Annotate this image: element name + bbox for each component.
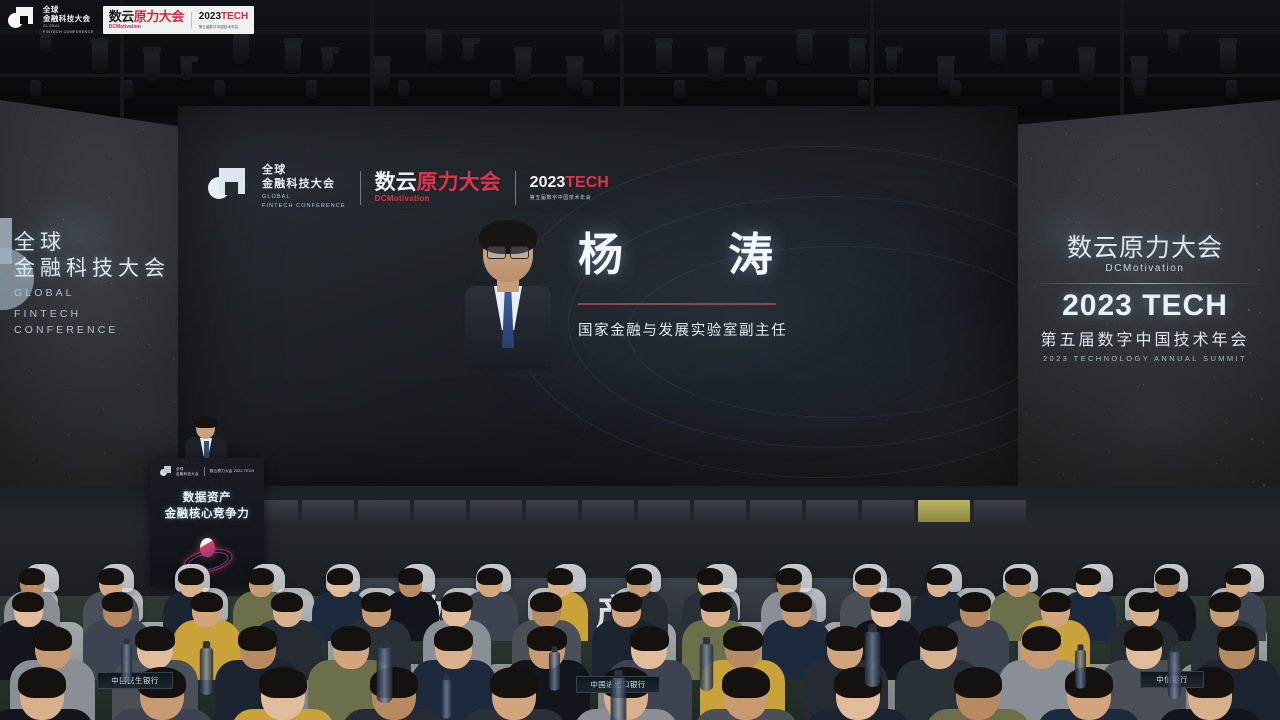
podium-fintech-mark-icon: [160, 466, 171, 477]
watermark-cn-line1: 全球: [43, 5, 94, 14]
right-wall-summit-cn: 第五届数字中国技术年会: [1027, 326, 1263, 350]
fintech-mark-icon: [208, 168, 248, 208]
watermark-dc-cn2: 原力大会: [134, 9, 184, 24]
watermark-cn-line2: 金融科技大会: [43, 14, 94, 23]
podium-logo-divider: [204, 467, 205, 476]
watermark-year-tech: TECH: [221, 11, 248, 22]
right-wall-dc-cn: 数云: [1067, 234, 1119, 262]
left-wall-cn-line1: 全球: [14, 230, 190, 256]
screen-fintech-en1: GLOBAL: [262, 194, 346, 202]
screen-logo-divider-2: [515, 171, 516, 205]
screen-dc-cn: 数云: [375, 171, 417, 194]
watermark-year-sub: 第五届数字中国技术年会: [199, 24, 248, 29]
podium-title: 数据资产 金融核心竞争力: [150, 491, 264, 523]
screen-year-sub: 第五届数字中国技术年会: [530, 194, 609, 201]
screen-year-line: 2023TECH: [530, 174, 609, 192]
screen-year: 2023: [530, 174, 566, 191]
right-wall-branding: 数云原力大会 DCMotivation 2023 TECH 第五届数字中国技术年…: [1027, 235, 1263, 363]
speaker-portrait-icon: [463, 224, 553, 369]
watermark-dc-text: 数云原力大会 DCMotivation: [109, 10, 184, 30]
broadcast-watermark: 全球 金融科技大会 GLOBAL FINTECH CONFERENCE 数云原力…: [8, 5, 254, 35]
screen-logo-divider-1: [360, 171, 361, 205]
screen-year-logo: 2023TECH 第五届数字中国技术年会: [530, 174, 609, 201]
watermark-dc-cn: 数云: [109, 9, 134, 24]
screen-fintech-cn1: 全球: [262, 164, 346, 178]
audience-name-card: 中国民生银行: [97, 672, 173, 689]
left-wall-branding: 全球 金融科技大会 GLOBAL FINTECH CONFERENCE: [14, 230, 190, 338]
right-wall-summit-en: 2023 TECHNOLOGY ANNUAL SUMMIT: [1027, 354, 1263, 363]
watermark-dc-title: 数云原力大会: [109, 10, 184, 23]
podium-fintech-cn2: 金融科技大会: [176, 472, 199, 477]
right-wall-tech: TECH: [1142, 289, 1228, 322]
conference-stage-scene: 全球 金融科技大会 GLOBAL FINTECH CONFERENCE 数云原力…: [0, 0, 1280, 720]
watermark-fintech-mark-icon: [8, 7, 34, 33]
right-wall-divider: [1027, 283, 1263, 284]
screen-dc-sub: DCMotivation: [375, 194, 501, 203]
speaker-divider: [578, 303, 776, 305]
watermark-fintech-text: 全球 金融科技大会 GLOBAL FINTECH CONFERENCE: [43, 5, 94, 36]
watermark-en-line1: GLOBAL: [43, 24, 94, 29]
podium-logo-bar: 全球 金融科技大会 数云原力大会 2023 TECH: [160, 466, 254, 477]
left-wall-en-line1: GLOBAL: [14, 286, 190, 302]
glasses-icon: [487, 246, 529, 257]
speaker-nameplate: 杨 涛 国家金融与发展实验室副主任: [578, 232, 958, 340]
watermark-year-text: 2023TECH 第五届数字中国技术年会: [199, 12, 248, 29]
speaker-title: 国家金融与发展实验室副主任: [578, 319, 958, 340]
right-wall-dc-en: DCMotivation: [1027, 263, 1263, 274]
stage-panel-row: [190, 500, 1026, 522]
main-led-screen: 全球 金融科技大会 GLOBAL FINTECH CONFERENCE 数云原力…: [178, 106, 1018, 486]
screen-fintech-en2: FINTECH CONFERENCE: [262, 203, 346, 211]
watermark-year: 2023: [199, 11, 221, 22]
screen-logo-bar: 全球 金融科技大会 GLOBAL FINTECH CONFERENCE 数云原力…: [208, 164, 609, 211]
screen-dc-logo: 数云原力大会 DCMotivation: [375, 172, 501, 203]
podium-fintech-text: 全球 金融科技大会: [176, 467, 199, 476]
left-wall-cn-line2: 金融科技大会: [14, 256, 190, 282]
watermark-divider: [191, 12, 192, 28]
screen-dc-cn2: 原力大会: [417, 171, 501, 194]
watermark-dc-badge: 数云原力大会 DCMotivation 2023TECH 第五届数字中国技术年会: [103, 6, 255, 34]
right-wall-year-tech: 2023 TECH: [1027, 291, 1263, 321]
left-wall-en-line2: FINTECH CONFERENCE: [14, 307, 190, 339]
screen-year-tech: TECH: [565, 174, 609, 191]
podium-dc-logo: 数云原力大会 2023 TECH: [210, 469, 255, 474]
right-wall-motivation-cn: 原力大会: [1119, 234, 1223, 262]
right-wall-title-line1: 数云原力大会: [1027, 235, 1263, 261]
screen-fintech-cn2: 金融科技大会: [262, 178, 346, 192]
right-wall-year: 2023: [1062, 289, 1133, 322]
screen-dc-title: 数云原力大会: [375, 172, 501, 193]
watermark-dc-sub: DCMotivation: [109, 24, 184, 30]
watermark-en-line2: FINTECH CONFERENCE: [43, 30, 94, 35]
screen-fintech-text: 全球 金融科技大会 GLOBAL FINTECH CONFERENCE: [262, 164, 346, 211]
watermark-year-line: 2023TECH: [199, 12, 248, 22]
speaker-name: 杨 涛: [578, 232, 958, 277]
podium-title-line1: 数据资产: [150, 491, 264, 507]
